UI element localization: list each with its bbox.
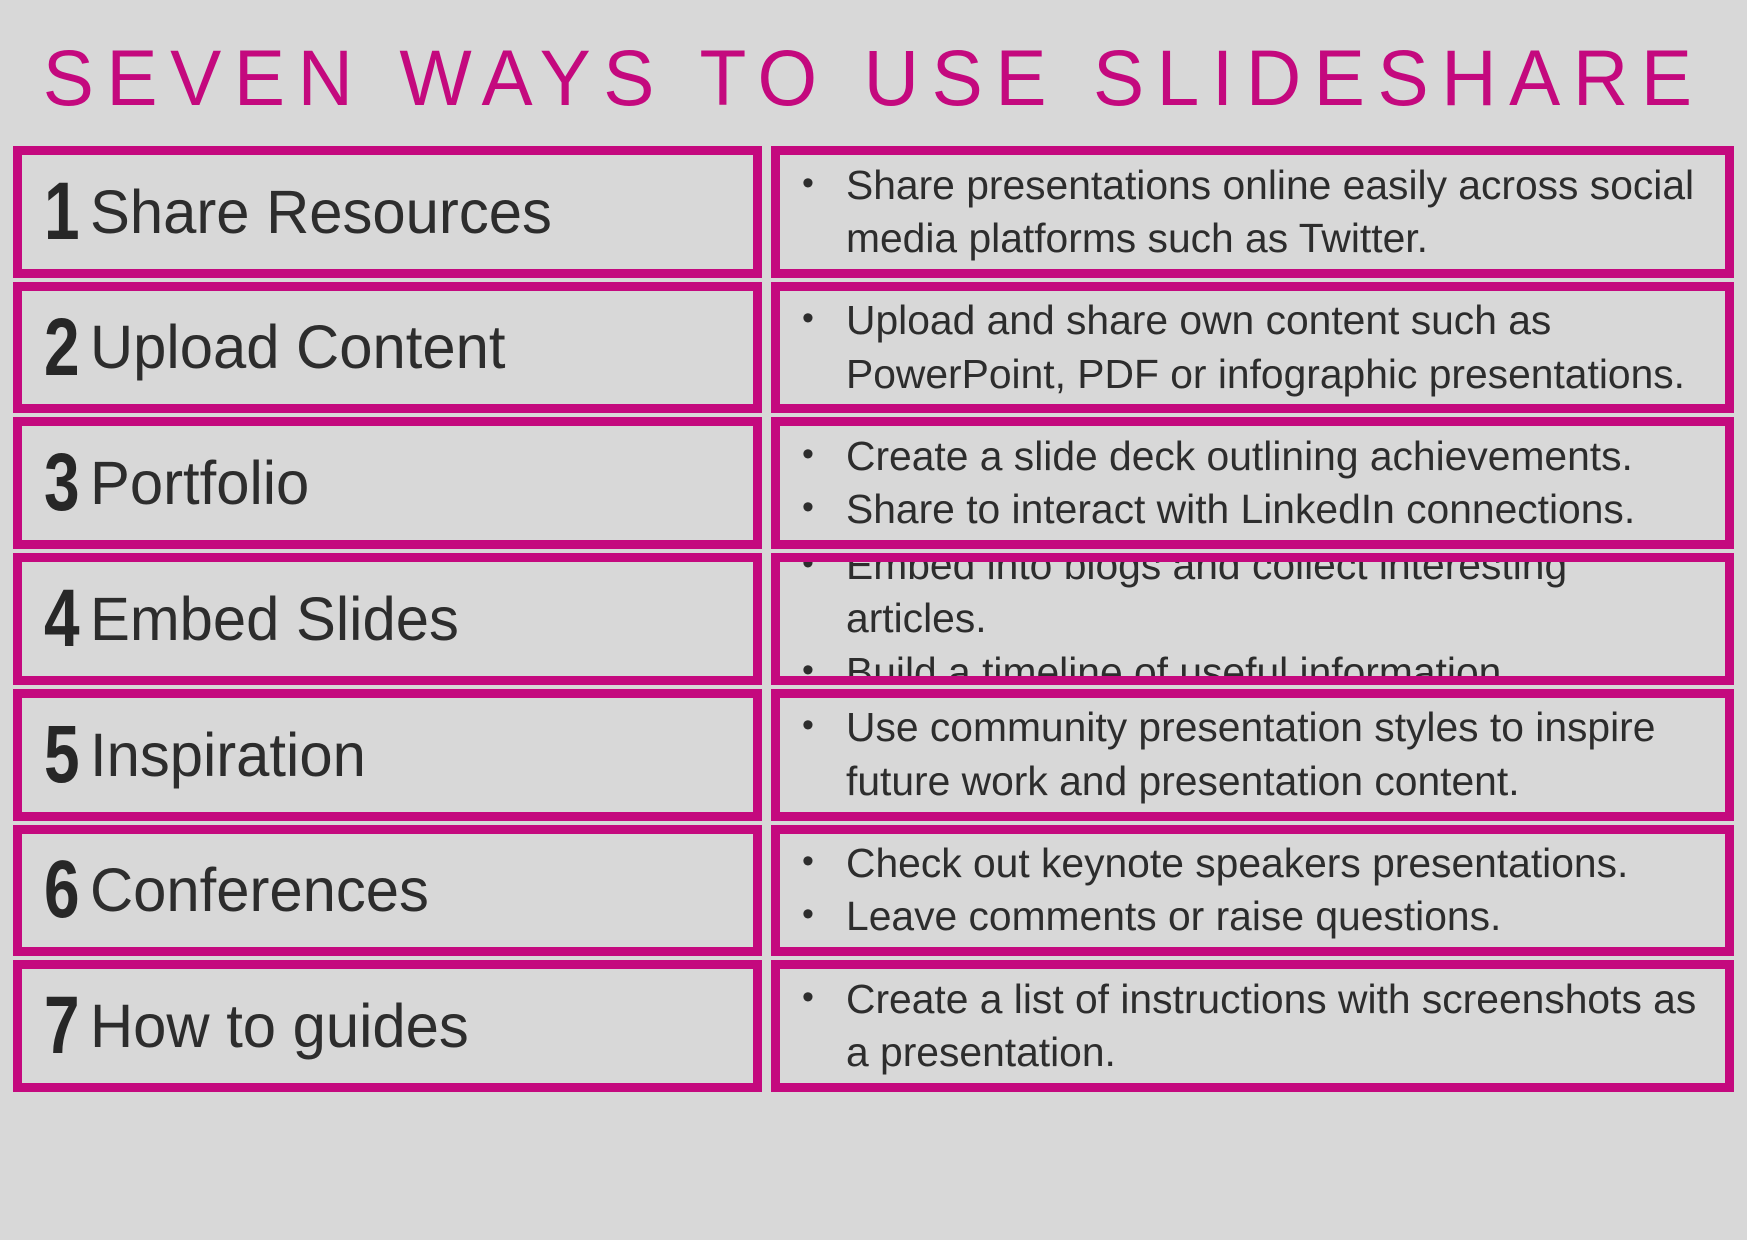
row-detail-cell[interactable]: •Share presentations online easily acros… <box>771 146 1734 278</box>
row-detail-cell[interactable]: •Create a list of instructions with scre… <box>771 960 1734 1092</box>
bullet-dot-icon: • <box>796 159 846 209</box>
bullet-list: •Share presentations online easily acros… <box>796 159 1721 266</box>
row-label: Portfolio <box>90 452 309 514</box>
bullet-text: Create a slide deck outlining achievemen… <box>846 430 1717 483</box>
list-item: •Check out keynote speakers presentation… <box>796 837 1721 890</box>
row-detail-cell[interactable]: •Embed into blogs and collect interestin… <box>771 553 1734 685</box>
bullet-dot-icon: • <box>796 701 846 751</box>
row-label: How to guides <box>90 995 469 1057</box>
bullet-text: Create a list of instructions with scree… <box>846 973 1717 1080</box>
list-item: •Create a list of instructions with scre… <box>796 973 1721 1080</box>
bullet-dot-icon: • <box>796 646 846 685</box>
row-label: Share Resources <box>90 181 552 243</box>
table-row: 1Share Resources•Share presentations onl… <box>13 146 1734 278</box>
bullet-text: Share to interact with LinkedIn connecti… <box>846 483 1717 536</box>
bullet-text: Check out keynote speakers presentations… <box>846 837 1717 890</box>
row-number: 3 <box>44 447 78 519</box>
bullet-dot-icon: • <box>796 553 846 589</box>
row-detail-cell[interactable]: •Create a slide deck outlining achieveme… <box>771 417 1734 549</box>
row-number: 2 <box>44 312 78 384</box>
bullet-dot-icon: • <box>796 483 846 533</box>
table-row: 6Conferences•Check out keynote speakers … <box>13 825 1734 957</box>
bullet-text: Leave comments or raise questions. <box>846 890 1717 943</box>
list-item: •Leave comments or raise questions. <box>796 890 1721 943</box>
slide-canvas: SEVEN WAYS TO USE SLIDESHARE 1Share Reso… <box>0 0 1747 1240</box>
bullet-dot-icon: • <box>796 890 846 940</box>
row-number: 7 <box>44 990 78 1062</box>
row-heading-cell[interactable]: 7How to guides <box>13 960 762 1092</box>
bullet-dot-icon: • <box>796 837 846 887</box>
row-detail-cell[interactable]: •Use community presentation styles to in… <box>771 689 1734 821</box>
table-row: 4Embed Slides•Embed into blogs and colle… <box>13 553 1734 685</box>
bullet-list: •Embed into blogs and collect interestin… <box>796 553 1721 685</box>
row-heading-cell[interactable]: 3Portfolio <box>13 417 762 549</box>
table-row: 7How to guides•Create a list of instruct… <box>13 960 1734 1092</box>
bullet-list: •Upload and share own content such as Po… <box>796 294 1721 401</box>
row-label: Inspiration <box>90 724 366 786</box>
row-number: 5 <box>44 719 78 791</box>
row-detail-cell[interactable]: •Upload and share own content such as Po… <box>771 282 1734 414</box>
row-detail-cell[interactable]: •Check out keynote speakers presentation… <box>771 825 1734 957</box>
bullet-text: Upload and share own content such as Pow… <box>846 294 1717 401</box>
bullet-dot-icon: • <box>796 294 846 344</box>
list-item: •Share presentations online easily acros… <box>796 159 1721 266</box>
list-item: •Build a timeline of useful information. <box>796 646 1721 685</box>
bullet-text: Share presentations online easily across… <box>846 159 1717 266</box>
table-row: 3Portfolio•Create a slide deck outlining… <box>13 417 1734 549</box>
list-item: •Create a slide deck outlining achieveme… <box>796 430 1721 483</box>
row-heading-cell[interactable]: 6Conferences <box>13 825 762 957</box>
page-title-text: SEVEN WAYS TO USE SLIDESHARE <box>43 38 1705 117</box>
table-row: 2Upload Content•Upload and share own con… <box>13 282 1734 414</box>
row-heading-cell[interactable]: 2Upload Content <box>13 282 762 414</box>
row-heading-cell[interactable]: 1Share Resources <box>13 146 762 278</box>
page-title: SEVEN WAYS TO USE SLIDESHARE <box>0 22 1747 132</box>
row-heading-cell[interactable]: 5Inspiration <box>13 689 762 821</box>
bullet-list: •Use community presentation styles to in… <box>796 701 1721 808</box>
list-item: •Upload and share own content such as Po… <box>796 294 1721 401</box>
bullet-dot-icon: • <box>796 430 846 480</box>
row-label: Conferences <box>90 859 429 921</box>
bullet-text: Build a timeline of useful information. <box>846 646 1717 685</box>
list-item: •Use community presentation styles to in… <box>796 701 1721 808</box>
row-label: Upload Content <box>90 316 505 378</box>
row-number: 6 <box>44 854 78 926</box>
table-row: 5Inspiration•Use community presentation … <box>13 689 1734 821</box>
ways-table: 1Share Resources•Share presentations onl… <box>13 146 1734 1092</box>
list-item: •Share to interact with LinkedIn connect… <box>796 483 1721 536</box>
bullet-list: •Check out keynote speakers presentation… <box>796 837 1721 944</box>
row-number: 4 <box>44 583 78 655</box>
bullet-text: Embed into blogs and collect interesting… <box>846 553 1717 646</box>
bullet-list: •Create a list of instructions with scre… <box>796 973 1721 1080</box>
bullet-text: Use community presentation styles to ins… <box>846 701 1717 808</box>
row-heading-cell[interactable]: 4Embed Slides <box>13 553 762 685</box>
row-number: 1 <box>44 176 78 248</box>
bullet-dot-icon: • <box>796 973 846 1023</box>
row-label: Embed Slides <box>90 588 459 650</box>
list-item: •Embed into blogs and collect interestin… <box>796 553 1721 646</box>
bullet-list: •Create a slide deck outlining achieveme… <box>796 430 1721 537</box>
